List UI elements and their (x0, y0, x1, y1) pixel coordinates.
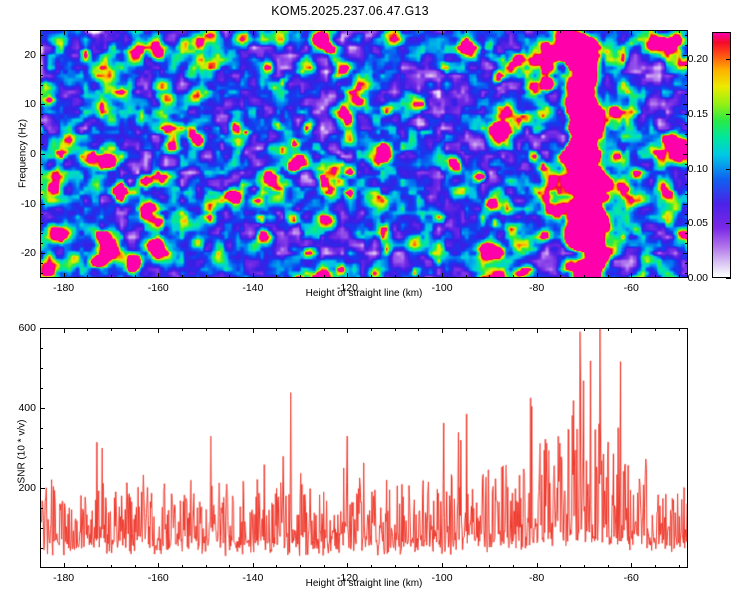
spectrogram-x-minor-tick-top (418, 30, 419, 33)
spectrogram-y-minor-tick (40, 134, 43, 135)
spectrogram-y-minor-tick (40, 263, 43, 264)
snr-x-minor-tick-top (560, 328, 561, 331)
figure-title: KOM5.2025.237.06.47.G13 (0, 4, 700, 18)
spectrogram-x-minor-tick (111, 275, 112, 278)
spectrogram-x-minor-tick (395, 275, 396, 278)
spectrogram-y-minor-tick-right (685, 233, 688, 234)
snr-x-tick (537, 563, 538, 568)
spectrogram-y-minor-tick-right (685, 144, 688, 145)
snr-x-tick-top (64, 328, 65, 333)
spectrogram-x-axis-title: Height of straight line (km) (306, 288, 423, 299)
colorbar-tick (726, 59, 731, 60)
spectrogram-x-minor-tick-top (300, 30, 301, 33)
spectrogram-y-minor-tick (40, 45, 43, 46)
spectrogram-y-minor-tick (40, 35, 43, 36)
spectrogram-y-tick (40, 104, 45, 105)
snr-y-minor-tick (40, 388, 43, 389)
snr-x-tick-label: -60 (624, 572, 639, 584)
spectrogram-y-minor-tick (40, 85, 43, 86)
colorbar-tick-label: 0.20 (678, 53, 708, 65)
spectrogram-x-minor-tick (489, 275, 490, 278)
spectrogram-x-minor-tick (182, 275, 183, 278)
snr-y-axis-title: SNR (10 * v/v) (17, 402, 28, 502)
spectrogram-x-tick-label: -80 (529, 282, 544, 294)
snr-x-minor-tick (87, 565, 88, 568)
spectrogram-y-minor-tick (40, 273, 43, 274)
spectrogram-y-minor-tick (40, 144, 43, 145)
spectrogram-x-tick (537, 273, 538, 278)
spectrogram-x-minor-tick-top (679, 30, 680, 33)
snr-y-minor-tick (40, 468, 43, 469)
spectrogram-y-tick (40, 154, 45, 155)
spectrogram-x-minor-tick-top (324, 30, 325, 33)
spectrogram-x-minor-tick-top (513, 30, 514, 33)
snr-x-tick-label: -180 (53, 572, 74, 584)
snr-x-minor-tick (111, 565, 112, 568)
spectrogram-x-minor-tick-top (206, 30, 207, 33)
snr-x-tick-label: -140 (242, 572, 263, 584)
spectrogram-y-minor-tick-right (685, 124, 688, 125)
snr-x-minor-tick-top (300, 328, 301, 331)
snr-x-minor-tick-top (229, 328, 230, 331)
colorbar-tick (726, 114, 731, 115)
snr-y-minor-tick (40, 528, 43, 529)
spectrogram-x-minor-tick-top (111, 30, 112, 33)
spectrogram-y-minor-tick (40, 164, 43, 165)
snr-x-minor-tick (229, 565, 230, 568)
snr-y-minor-tick (40, 368, 43, 369)
spectrogram-x-minor-tick-top (608, 30, 609, 33)
spectrogram-x-minor-tick (276, 275, 277, 278)
spectrogram-y-minor-tick (40, 174, 43, 175)
spectrogram-y-minor-tick-right (685, 94, 688, 95)
snr-x-minor-tick-top (395, 328, 396, 331)
spectrogram-y-minor-tick (40, 223, 43, 224)
snr-x-minor-tick (371, 565, 372, 568)
snr-x-minor-tick (513, 565, 514, 568)
spectrogram-y-minor-tick (40, 124, 43, 125)
spectrogram-x-tick-label: -140 (242, 282, 263, 294)
spectrogram-x-minor-tick-top (489, 30, 490, 33)
spectrogram-y-tick-right (683, 253, 688, 254)
snr-x-minor-tick-top (513, 328, 514, 331)
spectrogram-x-tick-top (253, 30, 254, 35)
spectrogram-x-tick-label: -60 (624, 282, 639, 294)
spectrogram-y-minor-tick (40, 243, 43, 244)
spectrogram-x-minor-tick-top (466, 30, 467, 33)
snr-x-minor-tick-top (324, 328, 325, 331)
snr-x-minor-tick-top (489, 328, 490, 331)
snr-x-minor-tick-top (466, 328, 467, 331)
snr-x-minor-tick-top (111, 328, 112, 331)
snr-x-minor-tick (276, 565, 277, 568)
spectrogram-x-tick-top (537, 30, 538, 35)
colorbar-gradient (713, 33, 730, 277)
spectrogram-y-tick-right (683, 104, 688, 105)
snr-x-minor-tick (608, 565, 609, 568)
snr-x-tick (64, 563, 65, 568)
spectrogram-x-tick-label: -100 (432, 282, 453, 294)
spectrogram-y-minor-tick (40, 184, 43, 185)
spectrogram-y-axis-title: Frequency (Hz) (18, 109, 29, 199)
snr-x-minor-tick-top (276, 328, 277, 331)
spectrogram-x-minor-tick (135, 275, 136, 278)
snr-x-minor-tick (395, 565, 396, 568)
spectrogram-x-minor-tick (584, 275, 585, 278)
spectrogram-y-tick-label: -10 (8, 198, 36, 210)
colorbar (712, 32, 731, 278)
snr-x-tick-top (347, 328, 348, 333)
snr-x-tick (631, 563, 632, 568)
snr-x-tick-top (253, 328, 254, 333)
snr-x-minor-tick-top (679, 328, 680, 331)
snr-panel (40, 328, 688, 568)
spectrogram-x-tick-label: -180 (53, 282, 74, 294)
spectrogram-x-minor-tick (300, 275, 301, 278)
spectrogram-y-tick (40, 55, 45, 56)
snr-x-minor-tick-top (608, 328, 609, 331)
spectrogram-x-minor-tick (206, 275, 207, 278)
spectrogram-x-tick (158, 273, 159, 278)
snr-y-minor-tick (40, 428, 43, 429)
spectrogram-y-tick-label: 20 (8, 49, 36, 61)
spectrogram-x-minor-tick-top (182, 30, 183, 33)
spectrogram-x-tick-top (631, 30, 632, 35)
spectrogram-x-tick-top (158, 30, 159, 35)
snr-x-minor-tick (679, 565, 680, 568)
snr-x-tick (442, 563, 443, 568)
spectrogram-x-tick (442, 273, 443, 278)
snr-y-minor-tick (40, 448, 43, 449)
snr-x-minor-tick (466, 565, 467, 568)
snr-x-minor-tick-top (584, 328, 585, 331)
spectrogram-y-minor-tick (40, 214, 43, 215)
spectrogram-x-minor-tick-top (276, 30, 277, 33)
spectrogram-x-minor-tick-top (560, 30, 561, 33)
spectrogram-y-minor-tick (40, 75, 43, 76)
colorbar-tick (726, 223, 731, 224)
spectrogram-x-minor-tick (418, 275, 419, 278)
spectrogram-y-minor-tick (40, 94, 43, 95)
spectrogram-y-tick-right (683, 204, 688, 205)
snr-x-minor-tick (206, 565, 207, 568)
snr-x-minor-tick (489, 565, 490, 568)
spectrogram-x-tick-label: -160 (148, 282, 169, 294)
colorbar-tick-label: 0.00 (678, 272, 708, 284)
snr-x-minor-tick (182, 565, 183, 568)
snr-x-minor-tick-top (87, 328, 88, 331)
colorbar-tick (726, 169, 731, 170)
spectrogram-x-minor-tick-top (229, 30, 230, 33)
spectrogram-x-minor-tick (466, 275, 467, 278)
snr-y-tick (40, 328, 45, 329)
snr-x-tick-label: -80 (529, 572, 544, 584)
spectrogram-x-tick (253, 273, 254, 278)
spectrogram-y-minor-tick-right (685, 243, 688, 244)
spectrogram-x-minor-tick-top (87, 30, 88, 33)
spectrogram-y-minor-tick-right (685, 35, 688, 36)
spectrogram-x-minor-tick-top (584, 30, 585, 33)
spectrogram-x-minor-tick (655, 275, 656, 278)
spectrogram-y-minor-tick-right (685, 85, 688, 86)
spectrogram-x-tick (64, 273, 65, 278)
spectrogram-x-tick-top (442, 30, 443, 35)
spectrogram-x-minor-tick-top (395, 30, 396, 33)
spectrogram-y-minor-tick-right (685, 45, 688, 46)
snr-x-minor-tick (418, 565, 419, 568)
snr-x-minor-tick (324, 565, 325, 568)
spectrogram-x-minor-tick (229, 275, 230, 278)
spectrogram-y-minor-tick-right (685, 214, 688, 215)
snr-x-tick (253, 563, 254, 568)
snr-x-tick-top (631, 328, 632, 333)
snr-y-minor-tick (40, 508, 43, 509)
snr-x-minor-tick (135, 565, 136, 568)
snr-y-minor-tick (40, 348, 43, 349)
spectrogram-x-tick-top (347, 30, 348, 35)
spectrogram-x-minor-tick-top (655, 30, 656, 33)
snr-x-minor-tick-top (206, 328, 207, 331)
snr-x-axis-title: Height of straight line (km) (306, 578, 423, 589)
spectrogram-y-minor-tick (40, 194, 43, 195)
snr-y-tick (40, 488, 45, 489)
spectrogram-y-minor-tick-right (685, 184, 688, 185)
spectrogram-y-minor-tick (40, 65, 43, 66)
snr-x-minor-tick-top (371, 328, 372, 331)
spectrogram-x-tick-top (64, 30, 65, 35)
colorbar-tick (726, 278, 731, 279)
spectrogram-x-tick (347, 273, 348, 278)
snr-x-tick (158, 563, 159, 568)
snr-y-minor-tick (40, 548, 43, 549)
colorbar-tick-label: 0.15 (678, 108, 708, 120)
spectrogram-x-minor-tick (324, 275, 325, 278)
colorbar-tick-label: 0.05 (678, 217, 708, 229)
spectrogram-x-minor-tick (560, 275, 561, 278)
spectrogram-y-minor-tick-right (685, 194, 688, 195)
snr-x-minor-tick (655, 565, 656, 568)
spectrogram-y-minor-tick (40, 233, 43, 234)
snr-x-minor-tick (584, 565, 585, 568)
snr-x-minor-tick-top (135, 328, 136, 331)
snr-x-tick-top (442, 328, 443, 333)
spectrogram-y-tick-label: -20 (8, 247, 36, 259)
spectrogram-y-tick (40, 204, 45, 205)
colorbar-tick-label: 0.10 (678, 163, 708, 175)
snr-trace-plot (41, 329, 687, 567)
snr-x-minor-tick-top (418, 328, 419, 331)
snr-x-minor-tick-top (182, 328, 183, 331)
spectrogram-x-minor-tick-top (371, 30, 372, 33)
spectrogram-y-minor-tick-right (685, 75, 688, 76)
snr-x-minor-tick (300, 565, 301, 568)
snr-y-tick-label: 600 (6, 322, 36, 334)
snr-x-tick (347, 563, 348, 568)
spectrogram-x-minor-tick (608, 275, 609, 278)
snr-x-tick-label: -100 (432, 572, 453, 584)
spectrogram-x-minor-tick-top (135, 30, 136, 33)
spectrogram-panel (40, 30, 688, 278)
snr-y-tick (40, 408, 45, 409)
spectrogram-x-tick (631, 273, 632, 278)
spectrogram-y-minor-tick (40, 114, 43, 115)
figure-root: KOM5.2025.237.06.47.G13 -180-160-140-120… (0, 0, 750, 600)
spectrogram-x-minor-tick (371, 275, 372, 278)
snr-x-minor-tick-top (655, 328, 656, 331)
snr-x-tick-label: -160 (148, 572, 169, 584)
spectrogram-y-minor-tick-right (685, 134, 688, 135)
spectrogram-x-minor-tick (513, 275, 514, 278)
snr-x-tick-top (158, 328, 159, 333)
snr-x-minor-tick (560, 565, 561, 568)
spectrogram-y-minor-tick-right (685, 263, 688, 264)
spectrogram-x-minor-tick (87, 275, 88, 278)
spectrogram-y-tick (40, 253, 45, 254)
spectrogram-image (41, 31, 687, 277)
snr-x-tick-top (537, 328, 538, 333)
spectrogram-y-tick-right (683, 154, 688, 155)
